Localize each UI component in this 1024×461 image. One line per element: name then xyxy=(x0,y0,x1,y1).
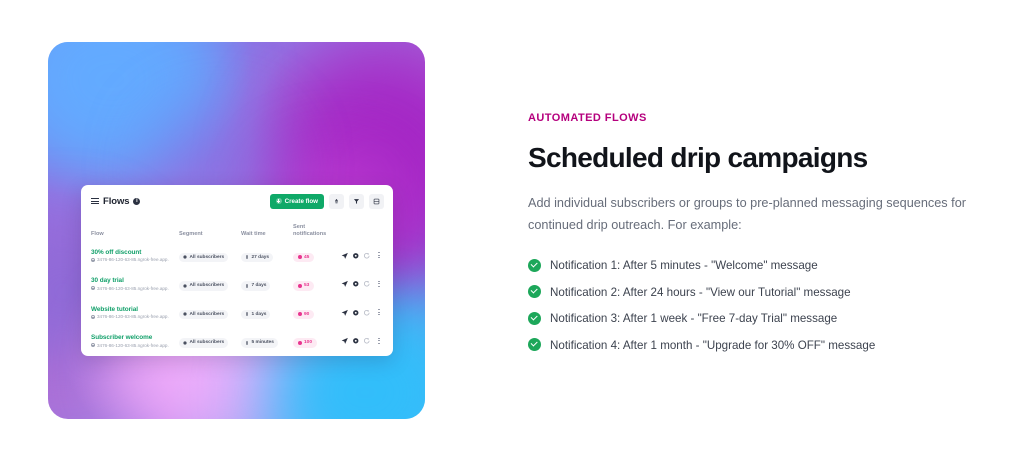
plus-circle-icon xyxy=(276,198,282,204)
more-options-icon[interactable] xyxy=(375,307,383,317)
segment-label: All subscribers xyxy=(190,340,225,345)
list-item-label: Notification 4: After 1 month - "Upgrade… xyxy=(550,338,875,353)
hourglass-icon xyxy=(245,284,249,288)
sent-badge: 45 xyxy=(293,253,314,263)
globe-icon xyxy=(91,315,95,319)
sent-cell: 53 xyxy=(293,275,341,293)
gear-icon[interactable] xyxy=(352,337,360,345)
sent-count: 53 xyxy=(304,283,309,288)
history-icon[interactable] xyxy=(363,280,371,288)
filter-button[interactable] xyxy=(349,194,364,209)
history-icon[interactable] xyxy=(363,309,371,317)
wait-time-cell: 7 days xyxy=(241,275,293,293)
list-icon xyxy=(91,197,99,205)
hourglass-icon xyxy=(245,341,249,345)
users-icon xyxy=(183,255,187,259)
column-header-wait-time: Wait time xyxy=(241,231,293,238)
row-actions xyxy=(341,337,375,345)
flow-url-text: 3476-86-120-63-85.ngrok-free.app. xyxy=(97,257,169,262)
flow-url-text: 3476-86-120-63-85.ngrok-free.app. xyxy=(97,286,169,291)
wait-time-cell: 5 minutes xyxy=(241,332,293,350)
flow-url-text: 3476-86-120-63-85.ngrok-free.app. xyxy=(97,343,169,348)
flow-cell[interactable]: 30 day trial 3476-86-120-63-85.ngrok-fre… xyxy=(91,277,179,291)
app-title: Flows xyxy=(103,196,129,207)
send-icon[interactable] xyxy=(341,309,349,317)
sort-button[interactable] xyxy=(329,194,344,209)
segment-cell: All subscribers xyxy=(179,275,241,293)
history-icon[interactable] xyxy=(363,252,371,260)
row-actions xyxy=(341,252,375,260)
app-title-group: Flows i xyxy=(91,196,140,207)
wait-time-pill: 5 minutes xyxy=(241,338,278,348)
more-options-icon[interactable] xyxy=(375,336,383,346)
gradient-blob-blue xyxy=(48,42,221,178)
info-icon[interactable]: i xyxy=(133,198,140,205)
list-item-label: Notification 1: After 5 minutes - "Welco… xyxy=(550,258,818,273)
flow-cell[interactable]: Website tutorial 3476-86-120-63-85.ngrok… xyxy=(91,306,179,320)
send-icon[interactable] xyxy=(341,252,349,260)
flow-cell[interactable]: 30% off discount 3476-86-120-63-85.ngrok… xyxy=(91,249,179,263)
bell-icon xyxy=(298,312,302,316)
list-item-label: Notification 3: After 1 week - "Free 7-d… xyxy=(550,311,837,326)
check-circle-icon xyxy=(528,285,541,298)
wait-time-cell: 27 days xyxy=(241,246,293,264)
grid-view-button[interactable] xyxy=(369,194,384,209)
list-item: Notification 2: After 24 hours - "View o… xyxy=(528,285,988,300)
wait-time-label: 7 days xyxy=(252,283,267,288)
table-header-row: Flow Segment Wait time Sentnotifications xyxy=(91,217,383,241)
hourglass-icon xyxy=(245,312,249,316)
segment-label: All subscribers xyxy=(190,283,225,288)
sent-cell: 100 xyxy=(293,332,341,350)
row-actions xyxy=(341,309,375,317)
history-icon[interactable] xyxy=(363,337,371,345)
sent-cell: 90 xyxy=(293,303,341,321)
sort-icon xyxy=(333,198,340,205)
users-icon xyxy=(183,284,187,288)
sent-badge: 53 xyxy=(293,281,314,291)
table-row[interactable]: 30% off discount 3476-86-120-63-85.ngrok… xyxy=(91,241,383,270)
list-item-label: Notification 2: After 24 hours - "View o… xyxy=(550,285,851,300)
flow-cell[interactable]: Subscriber welcome 3476-86-120-63-85.ngr… xyxy=(91,334,179,348)
filter-icon xyxy=(353,198,360,205)
wait-time-pill: 1 days xyxy=(241,310,270,320)
grid-view-icon xyxy=(373,198,380,205)
table-row[interactable]: 30 day trial 3476-86-120-63-85.ngrok-fre… xyxy=(91,270,383,299)
sent-badge: 100 xyxy=(293,338,317,348)
table-row[interactable]: Website tutorial 3476-86-120-63-85.ngrok… xyxy=(91,298,383,327)
send-icon[interactable] xyxy=(341,337,349,345)
segment-pill: All subscribers xyxy=(179,310,228,320)
flow-name: Website tutorial xyxy=(91,306,179,313)
segment-cell: All subscribers xyxy=(179,332,241,350)
flow-url: 3476-86-120-63-85.ngrok-free.app. xyxy=(91,286,175,291)
create-flow-button[interactable]: Create flow xyxy=(270,194,324,209)
users-icon xyxy=(183,312,187,316)
hourglass-icon xyxy=(245,255,249,259)
flow-url: 3476-86-120-63-85.ngrok-free.app. xyxy=(91,257,175,262)
section-description: Add individual subscribers or groups to … xyxy=(528,193,980,237)
flow-name: 30 day trial xyxy=(91,277,179,284)
list-item: Notification 1: After 5 minutes - "Welco… xyxy=(528,258,988,273)
list-item: Notification 3: After 1 week - "Free 7-d… xyxy=(528,311,988,326)
check-circle-icon xyxy=(528,312,541,325)
sent-count: 100 xyxy=(304,340,312,345)
app-card-header: Flows i Create flow xyxy=(81,185,393,217)
column-header-flow: Flow xyxy=(91,231,179,238)
page-title: Scheduled drip campaigns xyxy=(528,142,988,173)
bell-icon xyxy=(298,341,302,345)
wait-time-label: 5 minutes xyxy=(252,340,274,345)
flow-url: 3476-86-120-63-85.ngrok-free.app. xyxy=(91,343,175,348)
wait-time-pill: 7 days xyxy=(241,281,270,291)
wait-time-label: 1 days xyxy=(252,312,267,317)
bell-icon xyxy=(298,255,302,259)
more-options-icon[interactable] xyxy=(375,279,383,289)
flow-name: Subscriber welcome xyxy=(91,334,179,341)
gear-icon[interactable] xyxy=(352,280,360,288)
notification-list: Notification 1: After 5 minutes - "Welco… xyxy=(528,258,988,353)
globe-icon xyxy=(91,258,95,262)
globe-icon xyxy=(91,343,95,347)
sent-badge: 90 xyxy=(293,310,314,320)
flows-table: Flow Segment Wait time Sentnotifications… xyxy=(81,217,393,355)
sent-count: 45 xyxy=(304,255,309,260)
wait-time-cell: 1 days xyxy=(241,303,293,321)
segment-pill: All subscribers xyxy=(179,281,228,291)
sent-count: 90 xyxy=(304,312,309,317)
users-icon xyxy=(183,341,187,345)
flows-app-card: Flows i Create flow xyxy=(81,185,393,356)
more-options-icon[interactable] xyxy=(375,250,383,260)
app-header-actions: Create flow xyxy=(270,194,384,209)
sent-cell: 45 xyxy=(293,246,341,264)
segment-cell: All subscribers xyxy=(179,246,241,264)
flow-url: 3476-86-120-63-85.ngrok-free.app. xyxy=(91,314,175,319)
column-header-sent-notifications: Sentnotifications xyxy=(293,224,341,238)
content-column: AUTOMATED FLOWS Scheduled drip campaigns… xyxy=(528,112,988,353)
column-header-segment: Segment xyxy=(179,231,241,238)
create-flow-label: Create flow xyxy=(285,198,318,205)
segment-label: All subscribers xyxy=(190,312,225,317)
flow-name: 30% off discount xyxy=(91,249,179,256)
page-root: Flows i Create flow xyxy=(0,0,1024,461)
bell-icon xyxy=(298,284,302,288)
wait-time-label: 27 days xyxy=(252,255,270,260)
send-icon[interactable] xyxy=(341,280,349,288)
segment-pill: All subscribers xyxy=(179,253,228,263)
check-circle-icon xyxy=(528,259,541,272)
hero-gradient-panel: Flows i Create flow xyxy=(48,42,425,419)
segment-cell: All subscribers xyxy=(179,303,241,321)
globe-icon xyxy=(91,286,95,290)
segment-pill: All subscribers xyxy=(179,338,228,348)
row-actions xyxy=(341,280,375,288)
segment-label: All subscribers xyxy=(190,255,225,260)
list-item: Notification 4: After 1 month - "Upgrade… xyxy=(528,338,988,353)
gear-icon[interactable] xyxy=(352,309,360,317)
wait-time-pill: 27 days xyxy=(241,253,273,263)
check-circle-icon xyxy=(528,338,541,351)
gear-icon[interactable] xyxy=(352,252,360,260)
section-eyebrow: AUTOMATED FLOWS xyxy=(528,112,988,124)
table-row[interactable]: Subscriber welcome 3476-86-120-63-85.ngr… xyxy=(91,327,383,356)
flow-url-text: 3476-86-120-63-85.ngrok-free.app. xyxy=(97,314,169,319)
